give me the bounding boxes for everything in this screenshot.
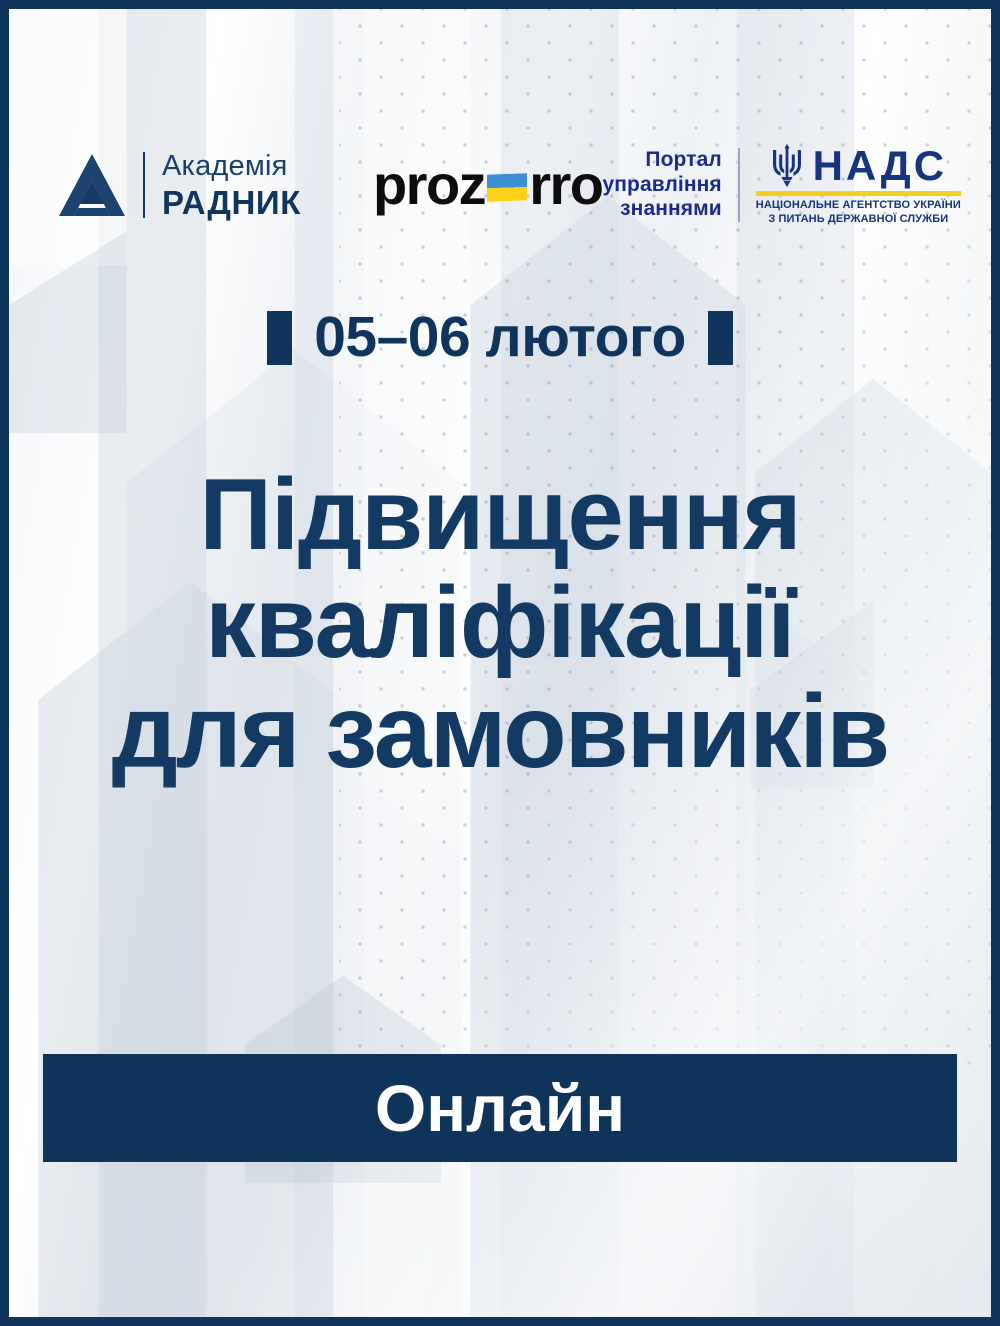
nads-subtitle-line1: НАЦІОНАЛЬНЕ АГЕНТСТВО УКРАЇНИ [756,199,961,213]
event-date: 05–06 лютого [314,309,686,366]
nads-subtitle: НАЦІОНАЛЬНЕ АГЕНТСТВО УКРАЇНИ З ПИТАНЬ Д… [756,199,961,227]
prozorro-part1: proz [373,157,485,213]
academy-divider [143,152,145,218]
date-block-right [708,311,733,365]
nads-logo: НАДС НАЦІОНАЛЬНЕ АГЕНТСТВО УКРАЇНИ З ПИТ… [756,144,961,227]
academy-wordmark: Академія РАДНИК [162,152,301,219]
nads-subtitle-line2: З ПИТАНЬ ДЕРЖАВНОЇ СЛУЖБИ [756,213,961,227]
academy-radnyk-logo: Академія РАДНИК [55,148,301,222]
academy-a-mark-icon [55,148,129,222]
nads-top-row: НАДС [770,144,947,188]
page-title: Підвищення кваліфікації для замовників [9,461,991,788]
prozorro-logo: proz rro [373,157,603,213]
academy-line2: РАДНИК [162,186,301,219]
ukraine-trident-icon [770,144,804,188]
nads-acronym: НАДС [813,145,947,187]
event-date-row: 05–06 лютого [9,309,991,366]
format-banner: Онлайн [43,1054,957,1162]
date-block-left [267,311,292,365]
ukraine-flag-icon [487,173,527,201]
portal-line3: знаннями [602,197,721,221]
knowledge-portal-nads-logo: Портал управління знаннями [602,144,960,227]
portal-nads-divider [738,148,740,222]
nads-yellow-bar [756,191,961,196]
event-poster: Академія РАДНИК proz rro Портал управлін… [0,0,1000,1326]
logo-row: Академія РАДНИК proz rro Портал управлін… [9,137,991,233]
academy-line1: Академія [162,152,301,181]
headline-line1: Підвищення [9,461,991,569]
prozorro-part2: rro [529,157,602,213]
headline-line2: кваліфікації [9,569,991,677]
format-label: Онлайн [375,1075,625,1141]
portal-line2: управління [602,173,721,197]
portal-line1: Портал [602,148,721,172]
headline-line3: для замовників [9,677,991,788]
portal-wordmark: Портал управління знаннями [602,148,721,221]
